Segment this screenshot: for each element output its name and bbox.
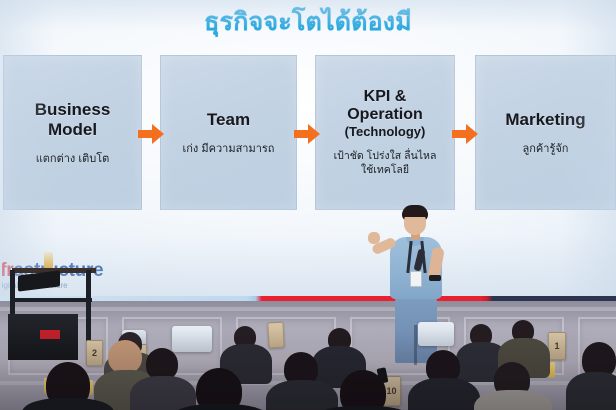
arrow-right-icon [294, 123, 320, 145]
flow-box-3-subtitle-line1: เป้าชัด โปร่งใส ลื่นไหล [334, 150, 437, 162]
audience-head [108, 340, 142, 374]
truss-beam [10, 298, 92, 302]
wristwatch-icon [429, 275, 441, 281]
flow-box-3-title: KPI & Operation [347, 88, 423, 124]
speaker-name-badge [410, 271, 422, 287]
audience-shoulders [566, 372, 616, 410]
flow-box-3-title-line1: KPI & [364, 88, 407, 105]
speaker-fringe [402, 208, 428, 217]
flow-box-3-title-line2: Operation [347, 106, 423, 123]
arrow-right-icon [452, 123, 478, 145]
arrow-right-icon [138, 123, 164, 145]
av-monitor [172, 326, 212, 352]
flow-box-2-subtitle: เก่ง มีความสามารถ [183, 142, 275, 156]
table-number-sign: 1 [548, 332, 566, 360]
slide-title: ธุรกิจจะโตได้ต้องมี [0, 5, 616, 39]
av-monitor [418, 322, 454, 346]
audience-shoulders [130, 376, 196, 410]
table-number-sign [267, 322, 284, 349]
flow-box-1-subtitle: แตกต่าง เติบโต [36, 152, 110, 166]
flow-box-4-subtitle: ลูกค้ารู้จัก [523, 142, 569, 156]
audience-shoulders [266, 380, 338, 410]
flow-box-2-title: Team [207, 110, 250, 130]
audience-shoulders [474, 390, 552, 410]
flow-box-marketing: Marketing ลูกค้ารู้จัก [475, 55, 616, 210]
flow-box-3-subtitle-line2: ใช้เทคโลยี [361, 164, 409, 176]
slide-flow-diagram: Business Model แตกต่าง เติบโต Team เก่ง … [0, 55, 616, 210]
audience-area: 2 4 7 10 1 [0, 318, 616, 410]
flow-box-1-title-line2: Model [48, 120, 97, 139]
flow-box-3-paren: (Technology) [345, 124, 426, 140]
flow-box-4-title: Marketing [505, 110, 585, 130]
flow-box-business-model: Business Model แตกต่าง เติบโต [3, 55, 142, 210]
flow-box-kpi-operation: KPI & Operation (Technology) เป้าชัด โปร… [315, 55, 455, 210]
speaker-left-hand [368, 232, 380, 244]
flow-box-3-subtitle: เป้าชัด โปร่งใส ลื่นไหล ใช้เทคโลยี [334, 149, 437, 177]
laptop [18, 270, 60, 291]
flow-box-team: Team เก่ง มีความสามารถ [160, 55, 297, 210]
audience-shoulders [408, 378, 480, 410]
drinking-glass [44, 252, 53, 268]
table-number-sign: 2 [86, 340, 103, 366]
flow-box-1-title: Business Model [35, 100, 111, 140]
conference-photo-scene: ธุรกิจจะโตได้ต้องมี Business Model แตกต่… [0, 0, 616, 410]
flow-box-1-title-line1: Business [35, 100, 111, 119]
audience-head [340, 370, 386, 410]
